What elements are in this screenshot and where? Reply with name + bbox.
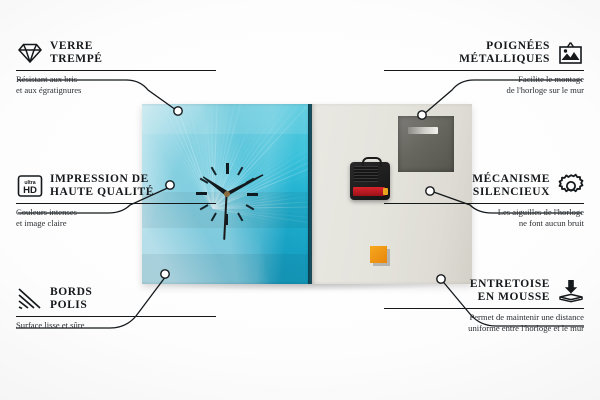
wall-mount-icon <box>557 40 584 67</box>
foam-spacer <box>370 246 387 263</box>
spacer-icon <box>557 278 584 305</box>
feature-header: BORDS POLIS <box>16 284 216 314</box>
feature-title: IMPRESSION DE HAUTE QUALITÉ <box>50 173 154 199</box>
feature-header: ENTRETOISE EN MOUSSE <box>384 276 584 306</box>
feature-poignees-metalliques: POIGNÉES MÉTALLIQUES Facilite le montage… <box>384 38 584 95</box>
feature-description: Permet de maintenir une distance uniform… <box>384 312 584 333</box>
feature-description: Surface lisse et sûre <box>16 320 216 331</box>
feature-divider <box>16 316 216 317</box>
feature-description: Résistant aux bris et aux égratignures <box>16 74 216 95</box>
feature-verre-trempe: VERRE TREMPÉ Résistant aux bris et aux é… <box>16 38 216 95</box>
feature-divider <box>384 70 584 71</box>
feature-header: ultra HD IMPRESSION DE HAUTE QUALITÉ <box>16 171 216 201</box>
feature-title: BORDS POLIS <box>50 286 92 312</box>
infographic-canvas: VERRE TREMPÉ Résistant aux bris et aux é… <box>0 0 600 400</box>
feature-header: MÉCANISME SILENCIEUX <box>384 171 584 201</box>
ultra-hd-icon: ultra HD <box>16 173 43 200</box>
feature-header: VERRE TREMPÉ <box>16 38 216 68</box>
feature-title: VERRE TREMPÉ <box>50 40 103 66</box>
mechanism-grille <box>354 166 378 182</box>
feature-divider <box>384 203 584 204</box>
gear-icon <box>557 173 584 200</box>
feature-mecanisme-silencieux: MÉCANISME SILENCIEUX Les aiguilles de l'… <box>384 171 584 228</box>
battery <box>353 187 385 196</box>
feature-impression-haute-qualite: ultra HD IMPRESSION DE HAUTE QUALITÉ Cou… <box>16 171 216 228</box>
hanger-plate <box>398 116 454 172</box>
feature-entretoise-en-mousse: ENTRETOISE EN MOUSSE Permet de maintenir… <box>384 276 584 333</box>
feature-title: ENTRETOISE EN MOUSSE <box>470 278 550 304</box>
feature-title: MÉCANISME SILENCIEUX <box>472 173 550 199</box>
polished-edge-icon <box>16 286 43 313</box>
diamond-icon <box>16 40 43 67</box>
feature-divider <box>384 308 584 309</box>
feature-description: Facilite le montage de l'horloge sur le … <box>384 74 584 95</box>
hanger-slot <box>408 127 438 134</box>
svg-text:HD: HD <box>23 185 37 196</box>
feature-divider <box>16 203 216 204</box>
feature-header: POIGNÉES MÉTALLIQUES <box>384 38 584 68</box>
feature-description: Couleurs intenses et image claire <box>16 207 216 228</box>
feature-bords-polis: BORDS POLIS Surface lisse et sûre <box>16 284 216 331</box>
feature-divider <box>16 70 216 71</box>
feature-title: POIGNÉES MÉTALLIQUES <box>459 40 550 66</box>
feature-description: Les aiguilles de l'horloge ne font aucun… <box>384 207 584 228</box>
clock-center-cap <box>224 191 230 197</box>
